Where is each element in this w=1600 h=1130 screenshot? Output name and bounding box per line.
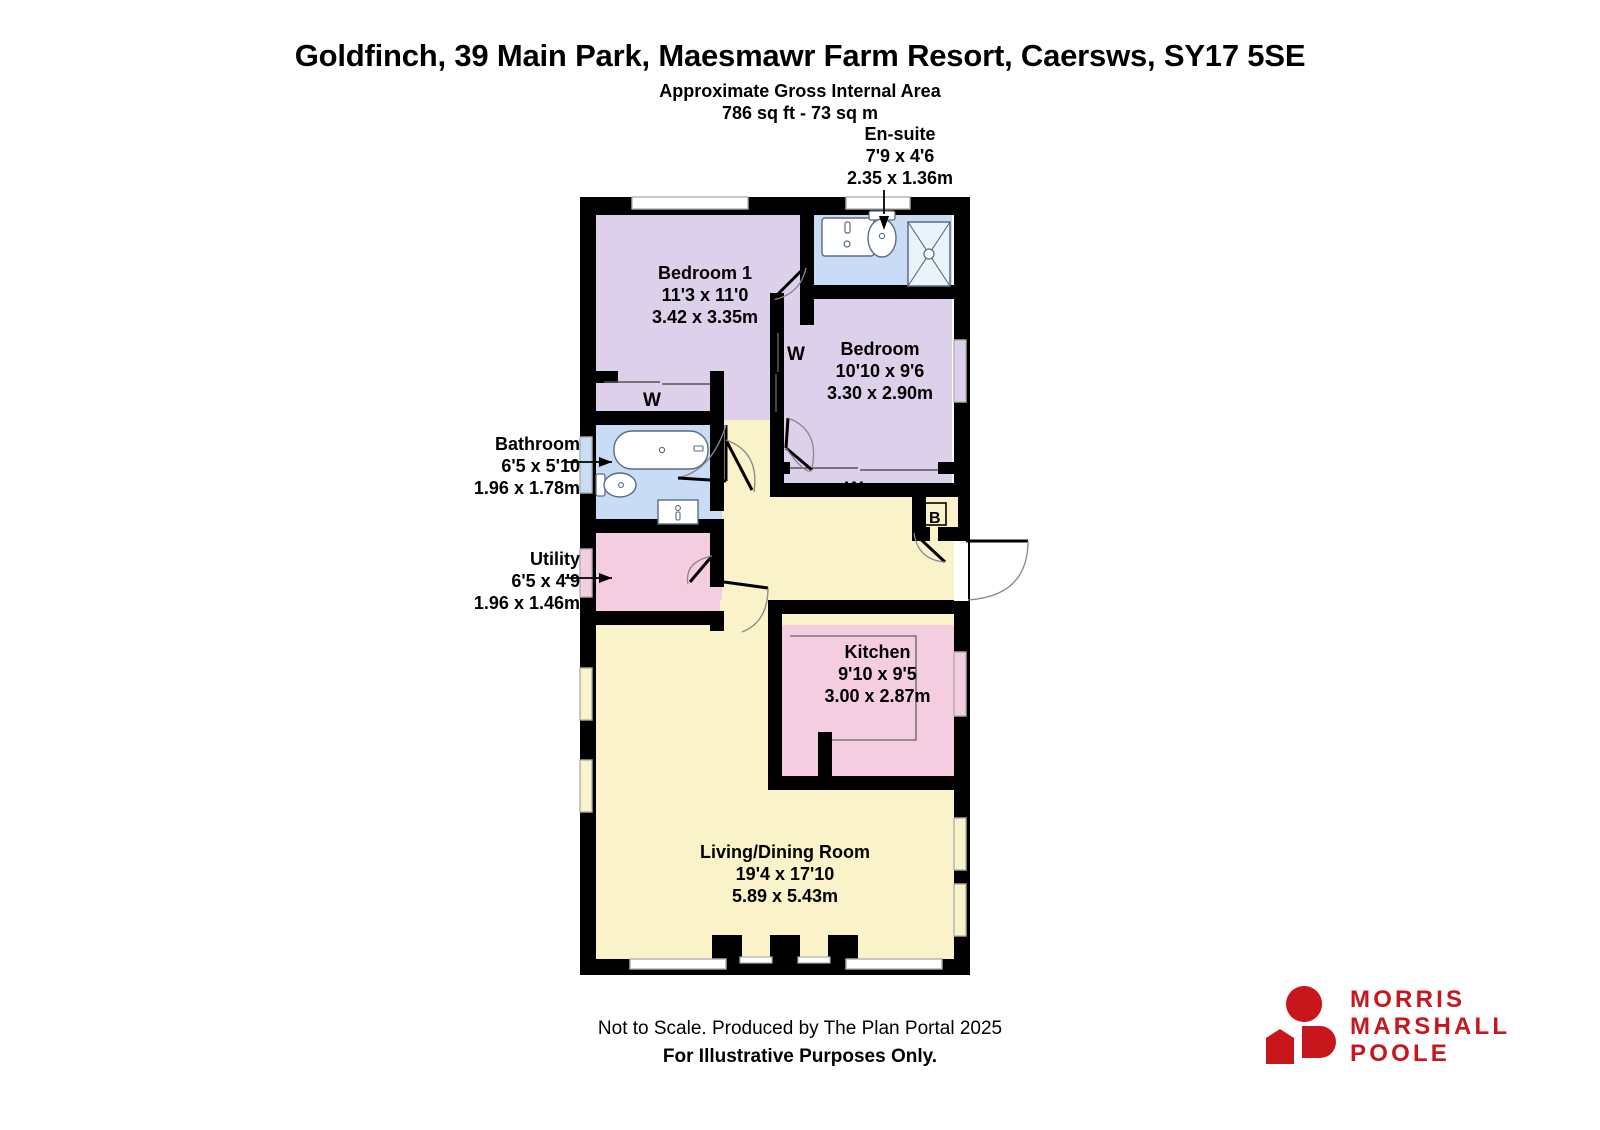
window-bathroom-left	[580, 437, 592, 493]
tap-ensuite	[845, 222, 850, 233]
window-bedroom1-top	[632, 197, 748, 209]
room-label-utility: Utility 6'5 x 4'9 1.96 x 1.46m	[380, 548, 580, 614]
brand-logo: MORRIS MARSHALL POOLE	[1258, 980, 1548, 1070]
floorplan-drawing	[0, 0, 1600, 1130]
utility-metric: 1.96 x 1.46m	[380, 592, 580, 614]
wall-bedroom1-bottom	[596, 411, 724, 425]
room-label-bathroom: Bathroom 6'5 x 5'10 1.96 x 1.78m	[380, 433, 580, 499]
door-swing-entrance	[968, 541, 1028, 600]
wall-bay-recess	[712, 935, 858, 961]
logo-line-2: MARSHALL	[1350, 1013, 1510, 1040]
room-label-living: Living/Dining Room 19'4 x 17'10 5.89 x 5…	[635, 841, 935, 907]
kitchen-unit-block	[818, 732, 832, 778]
window-bay-1	[740, 957, 772, 963]
bedroom2-metric: 3.30 x 2.90m	[775, 382, 985, 404]
wardrobe-marker-bedroom2: W	[845, 479, 863, 501]
window-ensuite-top	[846, 197, 910, 209]
door-leaf-bedroom2-b	[786, 418, 788, 448]
wardrobe-end-bedroom2-left	[770, 462, 790, 474]
bathroom-metric: 1.96 x 1.78m	[380, 477, 580, 499]
window-living-bottom-2	[846, 959, 942, 969]
wall-boiler-foot-right	[938, 527, 958, 541]
utility-imperial: 6'5 x 4'9	[380, 570, 580, 592]
logo-shape-house	[1266, 1029, 1294, 1064]
bedroom2-name: Bedroom	[775, 338, 985, 360]
wall-ensuite-bottom	[800, 285, 954, 299]
window-living-bottom-1	[630, 959, 726, 969]
bathtub-tap	[694, 446, 703, 451]
bedroom1-imperial: 11'3 x 11'0	[600, 284, 810, 306]
wardrobe-end-hall-bottom	[770, 412, 784, 424]
toilet-bathroom	[604, 473, 636, 497]
wall-wardrobe-bedroom1-right	[710, 371, 724, 425]
bedroom1-metric: 3.42 x 3.35m	[600, 306, 810, 328]
boiler-marker: B	[929, 510, 941, 528]
wall-utility-right	[710, 533, 724, 587]
bedroom1-name: Bedroom 1	[600, 262, 810, 284]
logo-shape-body	[1302, 1026, 1336, 1058]
kitchen-imperial: 9'10 x 9'5	[775, 663, 980, 685]
wall-kitchen-top	[768, 600, 960, 614]
window-living-left-1	[580, 668, 592, 720]
shower-drain-ensuite	[924, 249, 934, 259]
wardrobe-end-bedroom2-right	[938, 462, 958, 474]
bedroom2-imperial: 10'10 x 9'6	[775, 360, 985, 382]
window-living-right-1	[954, 818, 966, 870]
tap-bathroom	[676, 512, 680, 520]
logo-line-1: MORRIS	[1350, 986, 1510, 1013]
kitchen-name: Kitchen	[775, 641, 980, 663]
living-imperial: 19'4 x 17'10	[635, 863, 935, 885]
door-opening-entrance	[954, 541, 968, 601]
logo-shape-head	[1286, 986, 1322, 1022]
bathroom-imperial: 6'5 x 5'10	[380, 455, 580, 477]
room-label-bedroom2: Bedroom 10'10 x 9'6 3.30 x 2.90m	[775, 338, 985, 404]
logo-mark-icon	[1258, 980, 1338, 1070]
window-living-left-2	[580, 760, 592, 812]
toilet-ensuite	[868, 219, 896, 257]
logo-wordmark: MORRIS MARSHALL POOLE	[1350, 986, 1510, 1067]
bathroom-name: Bathroom	[380, 433, 580, 455]
window-bay-2	[798, 957, 830, 963]
utility-name: Utility	[380, 548, 580, 570]
wall-utility-corner	[710, 611, 724, 631]
wall-kitchen-bottom	[768, 776, 960, 790]
wardrobe-marker-bedroom1: W	[643, 390, 661, 412]
room-label-bedroom1: Bedroom 1 11'3 x 11'0 3.42 x 3.35m	[600, 262, 810, 328]
room-label-kitchen: Kitchen 9'10 x 9'5 3.00 x 2.87m	[775, 641, 980, 707]
window-living-right-2	[954, 884, 966, 936]
wall-utility-bottom	[596, 611, 724, 625]
living-name: Living/Dining Room	[635, 841, 935, 863]
wardrobe-marker-hall: W	[787, 344, 805, 366]
living-metric: 5.89 x 5.43m	[635, 885, 935, 907]
window-utility-left	[580, 549, 592, 597]
logo-line-3: POOLE	[1350, 1040, 1510, 1067]
kitchen-metric: 3.00 x 2.87m	[775, 685, 980, 707]
